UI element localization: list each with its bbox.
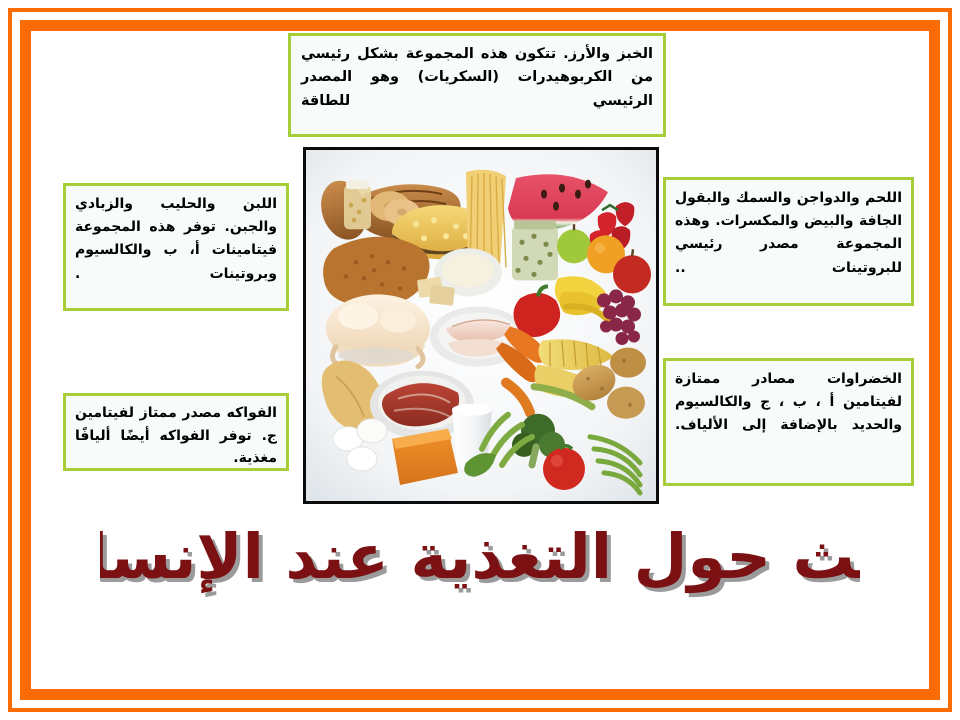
callout-grains-group: الخبز والأرز. تتكون هذه المجموعة بشكل رئ… (288, 33, 666, 137)
page-title: بحث حول التغذية عند الإنسان بحث حول التغ… (100, 512, 860, 608)
slide-canvas: الخبز والأرز. تتكون هذه المجموعة بشكل رئ… (0, 0, 960, 720)
callout-vegetables-group: الخضراوات مصادر ممتازة لفيتامين أ ، ب ، … (663, 358, 914, 486)
callout-grains-text: الخبز والأرز. تتكون هذه المجموعة بشكل رئ… (301, 43, 653, 113)
callout-vegetables-text: الخضراوات مصادر ممتازة لفيتامين أ ، ب ، … (675, 368, 902, 438)
callout-protein-group: اللحم والدواجن والسمك والبقول الجافة وال… (663, 177, 914, 306)
callout-dairy-group: اللبن والحليب والزبادي والجبن. توفر هذه … (63, 183, 289, 311)
food-groups-photograph (303, 147, 659, 504)
callout-fruits-text: الفواكه مصدر ممتاز لفيتامين ج. توفر الفو… (75, 402, 277, 470)
callout-fruits-group: الفواكه مصدر ممتاز لفيتامين ج. توفر الفو… (63, 393, 289, 471)
callout-protein-text: اللحم والدواجن والسمك والبقول الجافة وال… (675, 187, 902, 280)
page-title-text: بحث حول التغذية عند الإنسان (100, 520, 860, 593)
page-title-artistic-text: بحث حول التغذية عند الإنسان بحث حول التغ… (100, 512, 860, 608)
callout-dairy-text: اللبن والحليب والزبادي والجبن. توفر هذه … (75, 193, 277, 286)
food-photo-illustration (306, 150, 656, 501)
